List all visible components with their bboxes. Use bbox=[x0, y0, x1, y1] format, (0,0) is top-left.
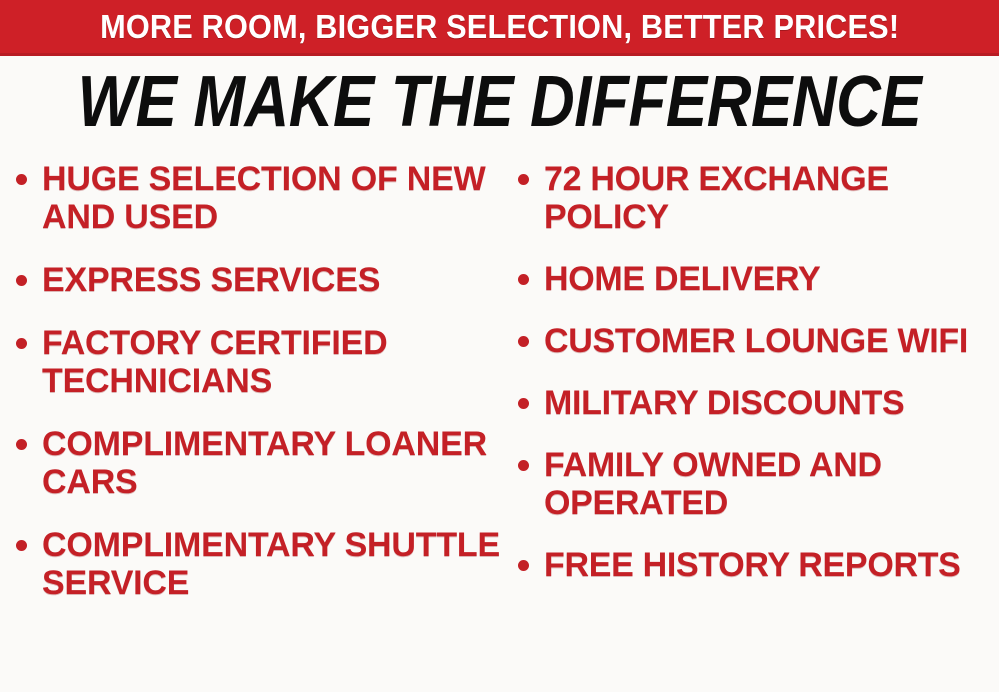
list-item: COMPLIMENTARY SHUTTLE SERVICE bbox=[16, 526, 500, 602]
main-headline: WE MAKE THE DIFFERENCE bbox=[0, 66, 999, 138]
bullet-dot-icon bbox=[16, 275, 27, 286]
bullet-dot-icon bbox=[518, 460, 529, 471]
list-item: HUGE SELECTION OF NEW AND USED bbox=[16, 160, 500, 236]
list-item: HOME DELIVERY bbox=[518, 260, 999, 298]
banner-headline-text: MORE ROOM, BIGGER SELECTION, BETTER PRIC… bbox=[100, 10, 899, 43]
bullet-dot-icon bbox=[16, 439, 27, 450]
bullet-dot-icon bbox=[518, 274, 529, 285]
list-item: FREE HISTORY REPORTS bbox=[518, 546, 999, 584]
main-headline-text: WE MAKE THE DIFFERENCE bbox=[78, 66, 922, 138]
benefit-label-complimentary-shuttle-service: COMPLIMENTARY SHUTTLE SERVICE bbox=[42, 526, 500, 602]
benefit-label-huge-selection: HUGE SELECTION OF NEW AND USED bbox=[42, 160, 500, 236]
bullet-dot-icon bbox=[518, 398, 529, 409]
list-item: FAMILY OWNED AND OPERATED bbox=[518, 446, 999, 522]
list-item: FACTORY CERTIFIED TECHNICIANS bbox=[16, 324, 500, 400]
list-item: COMPLIMENTARY LOANER CARS bbox=[16, 425, 500, 501]
benefit-label-free-history-reports: FREE HISTORY REPORTS bbox=[544, 546, 961, 584]
bullet-dot-icon bbox=[518, 174, 529, 185]
benefit-label-complimentary-loaner-cars: COMPLIMENTARY LOANER CARS bbox=[42, 425, 500, 501]
top-banner: MORE ROOM, BIGGER SELECTION, BETTER PRIC… bbox=[0, 0, 999, 56]
bullet-dot-icon bbox=[518, 560, 529, 571]
promotional-poster: MORE ROOM, BIGGER SELECTION, BETTER PRIC… bbox=[0, 0, 999, 692]
benefits-columns: HUGE SELECTION OF NEW AND USED EXPRESS S… bbox=[0, 160, 999, 692]
bullet-dot-icon bbox=[16, 174, 27, 185]
bullet-dot-icon bbox=[16, 540, 27, 551]
bullet-dot-icon bbox=[16, 338, 27, 349]
benefit-label-express-services: EXPRESS SERVICES bbox=[42, 261, 380, 299]
benefit-label-military-discounts: MILITARY DISCOUNTS bbox=[544, 384, 904, 422]
benefit-label-customer-lounge-wifi: CUSTOMER LOUNGE WIFI bbox=[544, 322, 968, 360]
benefit-label-factory-certified-technicians: FACTORY CERTIFIED TECHNICIANS bbox=[42, 324, 500, 400]
benefits-column-right: 72 HOUR EXCHANGE POLICY HOME DELIVERY CU… bbox=[500, 160, 999, 608]
list-item: EXPRESS SERVICES bbox=[16, 261, 500, 299]
benefit-label-family-owned-and-operated: FAMILY OWNED AND OPERATED bbox=[544, 446, 999, 522]
list-item: CUSTOMER LOUNGE WIFI bbox=[518, 322, 999, 360]
benefits-column-left: HUGE SELECTION OF NEW AND USED EXPRESS S… bbox=[0, 160, 500, 627]
bullet-dot-icon bbox=[518, 336, 529, 347]
benefit-label-home-delivery: HOME DELIVERY bbox=[544, 260, 820, 298]
list-item: MILITARY DISCOUNTS bbox=[518, 384, 999, 422]
benefit-label-72-hour-exchange-policy: 72 HOUR EXCHANGE POLICY bbox=[544, 160, 999, 236]
list-item: 72 HOUR EXCHANGE POLICY bbox=[518, 160, 999, 236]
